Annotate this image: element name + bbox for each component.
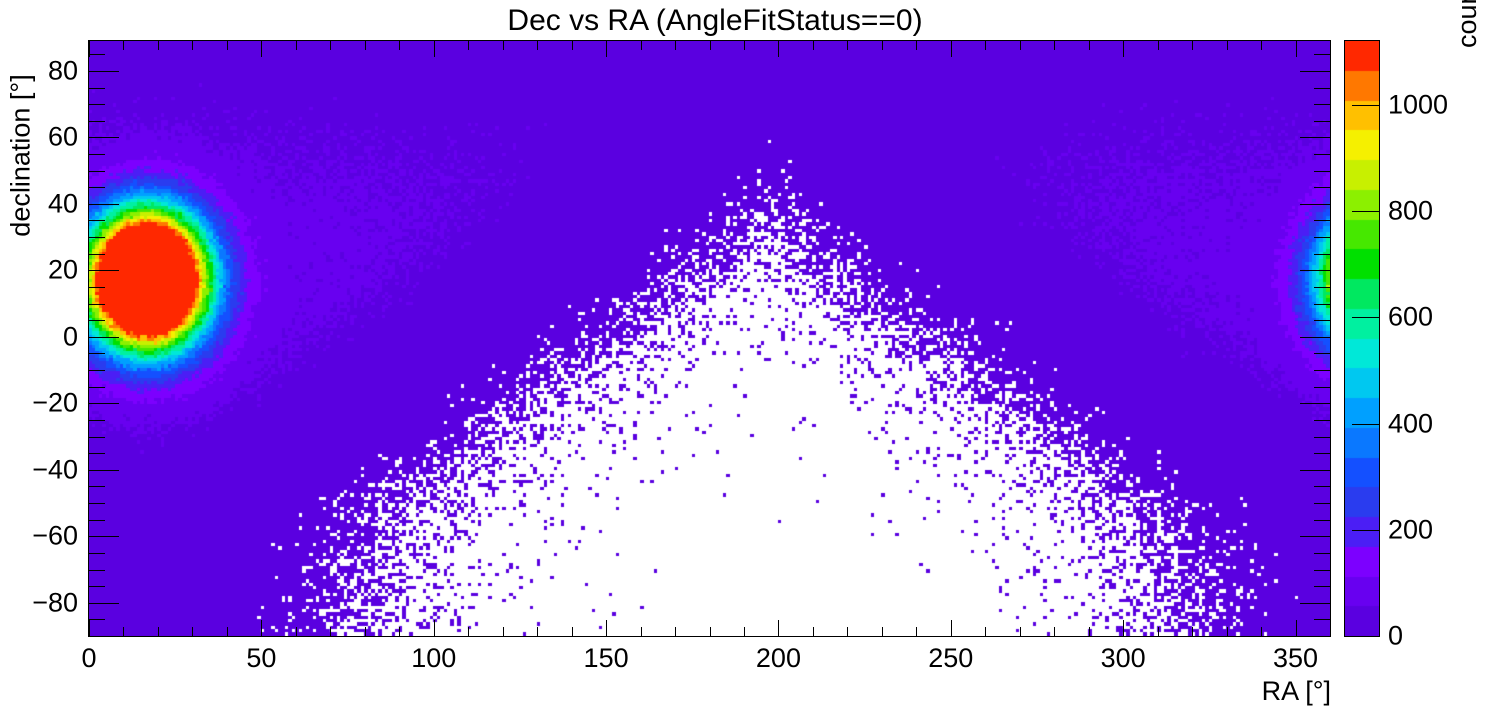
y-tick-mark-right	[1314, 287, 1330, 288]
x-tick-mark	[365, 627, 366, 636]
x-tick-mark	[1261, 627, 1262, 636]
y-tick-mark	[89, 586, 105, 587]
x-tick-mark	[606, 620, 607, 636]
x-tick-mark-top	[434, 41, 435, 57]
y-tick-mark	[89, 171, 105, 172]
y-tick-label: 20	[48, 255, 78, 286]
y-tick-mark	[89, 304, 105, 305]
colorbar-tick-label: 200	[1388, 514, 1433, 545]
y-tick-mark-right	[1314, 220, 1330, 221]
y-tick-mark	[89, 154, 105, 155]
y-tick-mark-right	[1314, 420, 1330, 421]
x-tick-mark	[710, 627, 711, 636]
x-tick-mark	[882, 627, 883, 636]
histogram-heatmap	[89, 41, 1330, 636]
y-tick-mark	[89, 104, 105, 105]
x-tick-label: 350	[1273, 643, 1318, 674]
colorbar-tick-mark	[1352, 105, 1380, 106]
x-tick-mark-top	[778, 41, 779, 57]
plot-frame	[88, 40, 1331, 637]
y-tick-mark	[89, 387, 105, 388]
x-tick-mark-top	[1054, 41, 1055, 50]
x-tick-mark-top	[1296, 41, 1297, 57]
x-tick-mark	[778, 620, 779, 636]
y-tick-mark-right	[1314, 453, 1330, 454]
x-tick-mark	[261, 620, 262, 636]
y-tick-mark-right	[1300, 603, 1330, 604]
y-tick-mark-right	[1314, 586, 1330, 587]
x-tick-mark-top	[192, 41, 193, 50]
y-tick-mark	[89, 71, 119, 72]
y-tick-mark-right	[1314, 104, 1330, 105]
y-tick-mark	[89, 270, 119, 271]
y-tick-mark-right	[1314, 636, 1330, 637]
x-tick-mark	[330, 627, 331, 636]
x-tick-label: 200	[756, 643, 801, 674]
y-tick-mark-right	[1300, 137, 1330, 138]
y-tick-label: −20	[32, 388, 78, 419]
x-tick-mark-top	[158, 41, 159, 50]
y-tick-mark	[89, 137, 119, 138]
x-tick-mark-top	[641, 41, 642, 50]
y-tick-mark	[89, 353, 105, 354]
x-axis-title: RA [°]	[1262, 676, 1331, 707]
x-tick-mark-top	[1158, 41, 1159, 50]
x-tick-label: 300	[1101, 643, 1146, 674]
x-tick-mark	[1020, 627, 1021, 636]
y-tick-mark	[89, 320, 105, 321]
chart-canvas-root: Dec vs RA (AngleFitStatus==0) 0501001502…	[0, 0, 1496, 722]
x-tick-mark-top	[985, 41, 986, 50]
x-tick-mark	[572, 627, 573, 636]
x-tick-mark	[468, 627, 469, 636]
colorbar-tick-label: 1000	[1388, 89, 1448, 120]
x-tick-mark	[1054, 627, 1055, 636]
colorbar-tick-label: 400	[1388, 408, 1433, 439]
x-tick-mark-top	[399, 41, 400, 50]
y-tick-mark	[89, 453, 105, 454]
x-tick-mark-top	[1192, 41, 1193, 50]
x-tick-mark-top	[1020, 41, 1021, 50]
y-tick-mark	[89, 220, 105, 221]
y-tick-mark-right	[1314, 520, 1330, 521]
y-tick-label: 0	[63, 321, 78, 352]
y-tick-mark-right	[1314, 187, 1330, 188]
x-tick-label: 0	[81, 643, 96, 674]
y-tick-label: 80	[48, 55, 78, 86]
x-tick-mark	[744, 627, 745, 636]
y-tick-mark	[89, 420, 105, 421]
y-tick-mark-right	[1314, 437, 1330, 438]
x-tick-mark-top	[1261, 41, 1262, 50]
x-tick-mark-top	[330, 41, 331, 50]
x-tick-mark	[1330, 627, 1331, 636]
x-tick-mark	[227, 627, 228, 636]
y-tick-label: −60	[32, 521, 78, 552]
x-tick-mark-top	[951, 41, 952, 57]
x-tick-mark-top	[468, 41, 469, 50]
y-tick-mark-right	[1314, 54, 1330, 55]
x-tick-mark	[503, 627, 504, 636]
colorbar-tick-label: 800	[1388, 196, 1433, 227]
x-tick-mark	[641, 627, 642, 636]
x-tick-mark-top	[813, 41, 814, 50]
y-tick-mark	[89, 503, 105, 504]
y-tick-mark-right	[1314, 619, 1330, 620]
x-tick-mark-top	[1123, 41, 1124, 57]
x-tick-mark-top	[847, 41, 848, 50]
y-tick-label: 40	[48, 188, 78, 219]
x-tick-mark-top	[1089, 41, 1090, 50]
y-tick-mark	[89, 287, 105, 288]
colorbar-tick-mark	[1352, 317, 1380, 318]
y-tick-mark	[89, 237, 105, 238]
x-tick-mark	[1158, 627, 1159, 636]
x-tick-mark-top	[1330, 41, 1331, 50]
y-tick-mark-right	[1300, 536, 1330, 537]
x-tick-mark	[1296, 620, 1297, 636]
y-tick-mark	[89, 254, 105, 255]
x-tick-mark	[847, 627, 848, 636]
y-tick-mark-right	[1314, 171, 1330, 172]
y-tick-mark-right	[1314, 88, 1330, 89]
x-tick-mark	[399, 627, 400, 636]
y-tick-mark	[89, 486, 105, 487]
colorbar-tick-mark	[1352, 530, 1380, 531]
x-tick-mark-top	[882, 41, 883, 50]
x-tick-mark	[813, 627, 814, 636]
y-tick-mark-right	[1314, 570, 1330, 571]
y-tick-mark-right	[1300, 403, 1330, 404]
y-tick-label: 60	[48, 122, 78, 153]
colorbar-tick-mark	[1352, 424, 1380, 425]
y-tick-mark-right	[1300, 337, 1330, 338]
y-tick-label: −40	[32, 454, 78, 485]
x-tick-mark-top	[503, 41, 504, 50]
y-tick-mark	[89, 370, 105, 371]
y-tick-mark	[89, 470, 119, 471]
x-tick-mark-top	[710, 41, 711, 50]
y-tick-mark-right	[1314, 553, 1330, 554]
y-tick-mark	[89, 619, 105, 620]
y-tick-mark-right	[1314, 387, 1330, 388]
y-tick-mark	[89, 570, 105, 571]
y-tick-mark-right	[1300, 270, 1330, 271]
x-tick-mark	[537, 627, 538, 636]
x-tick-mark	[951, 620, 952, 636]
y-tick-mark-right	[1314, 486, 1330, 487]
x-tick-mark	[1123, 620, 1124, 636]
y-tick-mark	[89, 204, 119, 205]
page-title: Dec vs RA (AngleFitStatus==0)	[0, 4, 1430, 38]
colorbar-tick-mark	[1352, 636, 1380, 637]
x-tick-mark	[158, 627, 159, 636]
x-tick-mark-top	[675, 41, 676, 50]
colorbar-tick-mark	[1352, 211, 1380, 212]
y-tick-label: −80	[32, 587, 78, 618]
x-tick-mark	[123, 627, 124, 636]
x-tick-label: 250	[928, 643, 973, 674]
y-tick-mark	[89, 536, 119, 537]
y-tick-mark-right	[1314, 254, 1330, 255]
y-tick-mark-right	[1314, 121, 1330, 122]
colorbar-tick-label: 0	[1388, 621, 1403, 652]
x-tick-mark-top	[365, 41, 366, 50]
x-tick-mark	[1089, 627, 1090, 636]
y-tick-mark	[89, 54, 105, 55]
x-tick-mark	[1192, 627, 1193, 636]
x-tick-mark	[675, 627, 676, 636]
y-tick-mark-right	[1314, 237, 1330, 238]
x-tick-mark-top	[744, 41, 745, 50]
y-tick-mark	[89, 603, 119, 604]
x-tick-mark	[296, 627, 297, 636]
x-tick-mark	[192, 627, 193, 636]
y-axis-title: declination [°]	[6, 66, 37, 246]
y-tick-mark-right	[1314, 503, 1330, 504]
y-tick-mark-right	[1314, 353, 1330, 354]
y-tick-mark-right	[1314, 154, 1330, 155]
x-tick-mark	[985, 627, 986, 636]
x-tick-mark-top	[296, 41, 297, 50]
y-tick-mark-right	[1314, 304, 1330, 305]
x-tick-mark	[1227, 627, 1228, 636]
x-tick-mark-top	[261, 41, 262, 57]
x-tick-mark-top	[1227, 41, 1228, 50]
y-tick-mark	[89, 520, 105, 521]
y-tick-mark-right	[1300, 71, 1330, 72]
x-tick-label: 50	[246, 643, 276, 674]
x-tick-mark-top	[916, 41, 917, 50]
x-tick-mark	[916, 627, 917, 636]
y-tick-mark-right	[1314, 320, 1330, 321]
colorbar-title: count	[1452, 0, 1483, 48]
y-tick-mark	[89, 88, 105, 89]
y-tick-mark	[89, 121, 105, 122]
x-tick-mark-top	[572, 41, 573, 50]
x-tick-mark-top	[123, 41, 124, 50]
y-tick-mark	[89, 437, 105, 438]
colorbar: 02004006008001000	[1344, 40, 1380, 637]
x-tick-mark	[434, 620, 435, 636]
x-tick-mark-top	[606, 41, 607, 57]
y-tick-mark-right	[1300, 470, 1330, 471]
colorbar-tick-label: 600	[1388, 302, 1433, 333]
y-tick-mark	[89, 403, 119, 404]
y-tick-mark	[89, 553, 105, 554]
y-tick-mark-right	[1314, 370, 1330, 371]
x-tick-mark-top	[537, 41, 538, 50]
y-tick-mark	[89, 337, 119, 338]
y-tick-mark	[89, 636, 105, 637]
y-tick-mark-right	[1300, 204, 1330, 205]
x-tick-label: 100	[411, 643, 456, 674]
x-tick-mark-top	[227, 41, 228, 50]
x-tick-mark	[89, 620, 90, 636]
y-tick-mark	[89, 187, 105, 188]
colorbar-gradient	[1344, 40, 1380, 637]
x-tick-label: 150	[584, 643, 629, 674]
